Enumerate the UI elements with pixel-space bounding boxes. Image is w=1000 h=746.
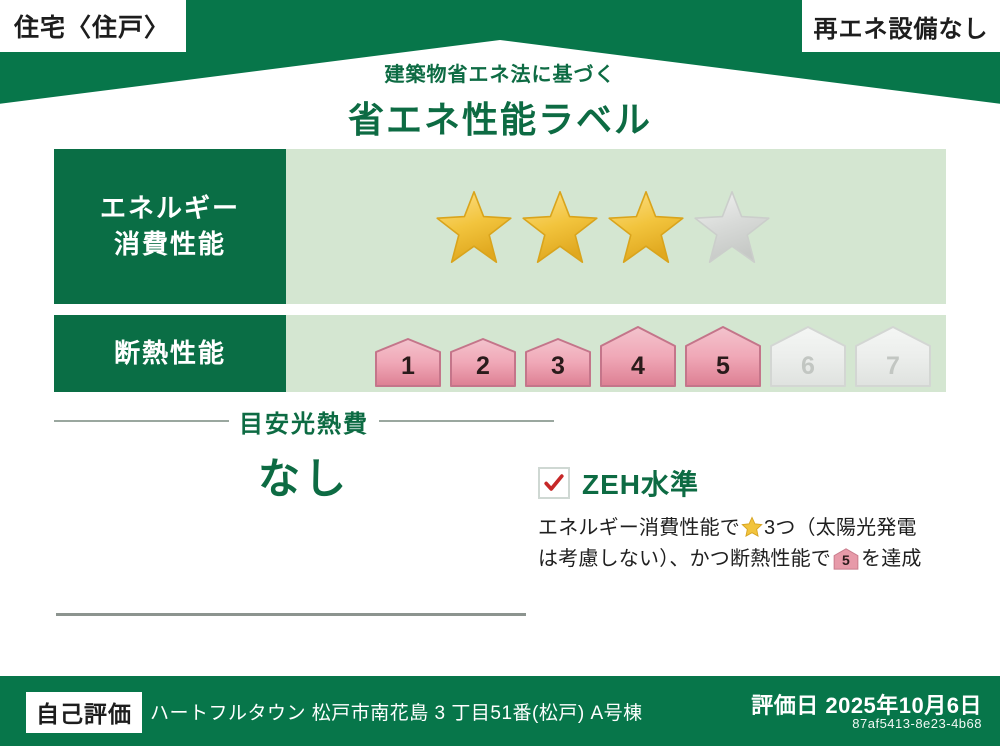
house-icon xyxy=(524,338,592,388)
energy-performance-label: エネルギー 消費性能 xyxy=(54,149,286,304)
star-rating xyxy=(434,188,772,266)
energy-performance-value xyxy=(286,149,946,304)
inline-star-icon xyxy=(741,516,763,538)
evaluation-id: 87af5413-8e23-4b68 xyxy=(852,716,982,731)
house-icon xyxy=(374,338,442,388)
energy-cost-heading: 目安光熱費 xyxy=(54,407,554,435)
building-type-badge: 住宅〈住戸〉 xyxy=(0,0,186,52)
zeh-desc-stars: 3つ（太陽光発電 xyxy=(764,517,917,539)
insulation-grade-scale: 1234567 xyxy=(374,311,932,396)
zeh-title: ZEH水準 xyxy=(582,463,699,503)
zeh-header: ZEH水準 xyxy=(538,463,948,503)
label-card: エネルギー 消費性能 断熱性能 1234567 目安光熱費 なし xyxy=(40,145,960,675)
house-icon xyxy=(449,338,517,388)
insulation-grade-1: 1 xyxy=(374,338,442,388)
insulation-performance-label: 断熱性能 xyxy=(54,315,286,392)
renewable-energy-text: 再エネ設備なし xyxy=(814,9,989,44)
zeh-block: ZEH水準 エネルギー消費性能で 3つ（太陽光発電 は考慮しない）、かつ断熱性能… xyxy=(538,463,948,575)
star-filled-icon xyxy=(606,188,686,266)
inline-house-grade: 5 xyxy=(833,548,859,570)
self-evaluation-badge: 自己評価 xyxy=(26,692,142,733)
insulation-performance-value: 1234567 xyxy=(286,315,946,392)
star-empty-icon xyxy=(692,188,772,266)
insulation-grade-3: 3 xyxy=(524,338,592,388)
zeh-checkbox[interactable] xyxy=(538,467,570,499)
house-icon xyxy=(599,326,677,388)
insulation-grade-7: 7 xyxy=(854,326,932,388)
zeh-desc-part1: エネルギー消費性能で xyxy=(538,517,740,539)
insulation-grade-5: 5 xyxy=(684,326,762,388)
energy-cost-value: なし xyxy=(54,445,554,506)
inline-house-icon: 5 xyxy=(833,548,859,570)
label-footer: 自己評価 ハートフルタウン 松戸市南花島 3 丁目51番(松戸) A号棟 評価日… xyxy=(0,676,1000,746)
energy-cost-heading-text: 目安光熱費 xyxy=(239,404,369,439)
zeh-desc-part3: を達成 xyxy=(861,548,922,570)
property-name: ハートフルタウン 松戸市南花島 3 丁目51番(松戸) A号棟 xyxy=(150,698,643,725)
zeh-desc-part2: は考慮しない）、かつ断熱性能で xyxy=(538,548,831,570)
insulation-label-text: 断熱性能 xyxy=(114,336,226,371)
insulation-grade-4: 4 xyxy=(599,326,677,388)
building-type-text: 住宅〈住戸〉 xyxy=(14,8,170,44)
roof-shape xyxy=(0,40,1000,150)
heading-rule-left xyxy=(54,420,229,422)
insulation-grade-6: 6 xyxy=(769,326,847,388)
cost-divider xyxy=(56,613,526,616)
insulation-grade-2: 2 xyxy=(449,338,517,388)
heading-rule-right xyxy=(379,420,554,422)
energy-label-line2: 消費性能 xyxy=(114,227,226,262)
star-filled-icon xyxy=(434,188,514,266)
house-icon xyxy=(769,326,847,388)
energy-performance-row: エネルギー 消費性能 xyxy=(54,149,946,304)
star-filled-icon xyxy=(520,188,600,266)
renewable-energy-badge: 再エネ設備なし xyxy=(802,0,1000,52)
insulation-performance-row: 断熱性能 1234567 xyxy=(54,315,946,392)
house-icon xyxy=(684,326,762,388)
house-icon xyxy=(854,326,932,388)
zeh-description: エネルギー消費性能で 3つ（太陽光発電 は考慮しない）、かつ断熱性能で 5 を達… xyxy=(538,513,948,575)
energy-performance-label: 住宅〈住戸〉 再エネ設備なし 建築物省エネ法に基づく 省エネ性能ラベル エネルギ… xyxy=(0,0,1000,746)
energy-label-line1: エネルギー xyxy=(100,191,240,226)
